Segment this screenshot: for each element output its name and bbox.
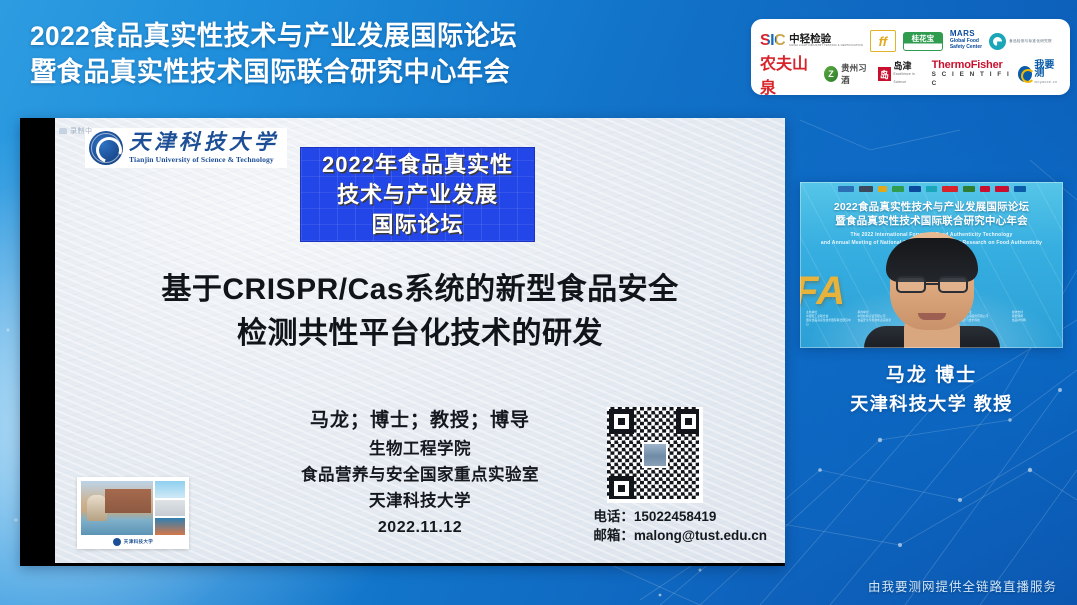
- university-name-cn: 天津科技大学: [129, 132, 279, 153]
- campus-photo-thumb-2: [155, 500, 185, 517]
- teal-institute-name: 食品检测与标准化研究院: [1009, 39, 1052, 44]
- shimadzu-mark: 岛: [878, 67, 890, 81]
- qr-quiet-zone-right: [699, 407, 703, 503]
- guijiabao-name-cn: 桂花宝: [903, 32, 943, 51]
- event-title-line2: 暨食品真实性技术国际联合研究中心年会: [30, 54, 517, 90]
- campus-card-footer: 天津科技大学: [81, 535, 185, 549]
- video-logo-11: [1014, 186, 1026, 192]
- qr-finder-bottom-left: [609, 476, 634, 501]
- video-bg-title-line2: 暨食品真实性技术国际联合研究中心年会: [800, 214, 1063, 228]
- speaker-portrait: [870, 238, 994, 348]
- forum-banner-line3: 国际论坛: [371, 211, 463, 239]
- sponsor-logo-guizhou-xijiu: Z 贵州习酒: [824, 60, 871, 88]
- contact-email: 邮箱：malong@tust.edu.cn: [593, 526, 767, 545]
- screen-share-viewport[interactable]: 录制中 天津科技大学 Tianjin University of Science…: [20, 118, 785, 566]
- shimadzu-name-en: Excellence in Science: [894, 70, 925, 86]
- glasses-bridge: [926, 283, 938, 285]
- contact-block: 电话：15022458419 邮箱：malong@tust.edu.cn: [593, 407, 767, 545]
- video-footer-col-1: 主办单位中国轻工业联合会国家食品真实性技术国际联合研究中心: [806, 310, 851, 326]
- sic-mark: SIC: [760, 32, 785, 50]
- sponsor-panel: SIC 中轻检验 CHINA LIGHT INDUSTRY TESTING & …: [751, 19, 1070, 95]
- mars-line3: Safety Center: [950, 44, 982, 51]
- sponsor-logo-woyaoce: 我要测 woyaoce.cn: [1018, 60, 1061, 88]
- video-background-logos: [800, 186, 1063, 192]
- video-background-title: 2022食品真实性技术与产业发展国际论坛 暨食品真实性技术国际联合研究中心年会: [800, 200, 1063, 228]
- woyaoce-name-cn: 我要测: [1034, 62, 1061, 78]
- recording-indicator: 录制中: [59, 126, 93, 136]
- video-logo-10: [995, 186, 1009, 192]
- xijiu-mark: Z: [824, 66, 838, 82]
- video-logo-8: [963, 186, 975, 192]
- sponsor-logo-teal-institute: 食品检测与标准化研究院: [989, 27, 1052, 55]
- woyaoce-name-en: woyaoce.cn: [1034, 78, 1061, 86]
- forum-banner-line2: 技术与产业发展: [337, 181, 498, 209]
- recording-label: 录制中: [70, 126, 93, 136]
- qr-finder-top-right: [676, 409, 701, 434]
- event-title-line1: 2022食品真实性技术与产业发展国际论坛: [30, 18, 517, 54]
- video-footer-col-5: 媒体支持我要测网食品伙伴网: [1012, 310, 1057, 326]
- contact-phone: 电话：15022458419: [593, 507, 767, 526]
- campus-photo-thumb-3: [155, 518, 185, 535]
- speaker-name: 马龙 博士: [800, 362, 1063, 390]
- glasses-left-lens: [896, 276, 926, 293]
- video-logo-9: [980, 186, 990, 192]
- speaker-info: 马龙 博士 天津科技大学 教授: [800, 362, 1063, 418]
- shimadzu-name-cn: 岛津: [894, 62, 925, 70]
- campus-photo-main: [81, 481, 153, 535]
- qr-finder-top-left: [609, 409, 634, 434]
- teal-swirl-icon: [989, 33, 1006, 50]
- glasses-right-lens: [938, 276, 968, 293]
- video-logo-3: [878, 186, 887, 192]
- slide-title: 基于CRISPR/Cas系统的新型食品安全 检测共性平台化技术的研发: [55, 268, 785, 356]
- university-seal-icon: [89, 131, 123, 165]
- campus-card-caption: 天津科技大学: [124, 539, 153, 545]
- sic-name-cn: 中轻检验: [789, 34, 863, 44]
- qr-quiet-zone-bottom: [607, 499, 703, 503]
- sponsor-logo-nongfu-spring: 农夫山泉: [760, 60, 817, 88]
- sponsor-row-2: 农夫山泉 Z 贵州习酒 岛 岛津 Excellence in Science T…: [760, 59, 1061, 89]
- footer-note: 由我要测网提供全链路直播服务: [868, 576, 1057, 595]
- speaker-glasses-icon: [896, 276, 968, 294]
- sponsor-logo-ff: ff: [870, 27, 896, 55]
- speaker-affiliation: 天津科技大学 教授: [800, 390, 1063, 418]
- ff-mark: ff: [870, 30, 896, 52]
- event-title: 2022食品真实性技术与产业发展国际论坛 暨食品真实性技术国际联合研究中心年会: [30, 18, 517, 90]
- video-logo-1: [838, 186, 854, 192]
- forum-banner-line1: 2022年食品真实性: [322, 151, 513, 179]
- campus-photo-thumb-1: [155, 481, 185, 498]
- xijiu-name-cn: 贵州习酒: [841, 62, 871, 86]
- thermofisher-sub: S C I E N T I F I C: [932, 70, 1012, 88]
- campus-photo-card: 天津科技大学: [77, 477, 189, 549]
- video-logo-4: [892, 186, 904, 192]
- sponsor-logo-thermo-fisher: ThermoFisher S C I E N T I F I C: [932, 60, 1012, 88]
- page-header: 2022食品真实性技术与产业发展国际论坛 暨食品真实性技术国际联合研究中心年会 …: [0, 0, 1077, 112]
- speaker-video-tile[interactable]: 2022食品真实性技术与产业发展国际论坛 暨食品真实性技术国际联合研究中心年会 …: [800, 182, 1063, 348]
- university-name-en: Tianjin University of Science & Technolo…: [129, 156, 279, 164]
- campus-card-seal-icon: [113, 538, 121, 546]
- slide-title-line1: 基于CRISPR/Cas系统的新型食品安全: [55, 268, 785, 312]
- sponsor-logo-mars: MARS Global Food Safety Center: [950, 27, 982, 55]
- video-logo-2: [859, 186, 873, 192]
- live-stream-page: 2022食品真实性技术与产业发展国际论坛 暨食品真实性技术国际联合研究中心年会 …: [0, 0, 1077, 605]
- university-logo: 天津科技大学 Tianjin University of Science & T…: [85, 128, 287, 168]
- speaker-mouth: [918, 313, 946, 320]
- presentation-slide: 录制中 天津科技大学 Tianjin University of Science…: [55, 118, 785, 563]
- forum-banner: 2022年食品真实性 技术与产业发展 国际论坛: [300, 147, 535, 242]
- sic-name-en: CHINA LIGHT INDUSTRY TESTING & CERTIFICA…: [789, 44, 863, 48]
- slide-title-line2: 检测共性平台化技术的研发: [55, 312, 785, 356]
- video-logo-5: [909, 186, 921, 192]
- campus-photo-grid: [81, 481, 185, 535]
- record-icon: [59, 128, 67, 134]
- sponsor-logo-shimadzu: 岛 岛津 Excellence in Science: [878, 60, 924, 88]
- video-logo-7: [942, 186, 958, 192]
- qr-code: [607, 407, 703, 503]
- video-bg-title-line1: 2022食品真实性技术与产业发展国际论坛: [800, 200, 1063, 214]
- nongfu-name-cn: 农夫山泉: [760, 50, 817, 98]
- thermofisher-name: ThermoFisher: [932, 61, 1012, 70]
- video-logo-6: [926, 186, 937, 192]
- woyaoce-circle-icon: [1018, 66, 1032, 82]
- sponsor-logo-guijiabao: 桂花宝: [903, 27, 943, 55]
